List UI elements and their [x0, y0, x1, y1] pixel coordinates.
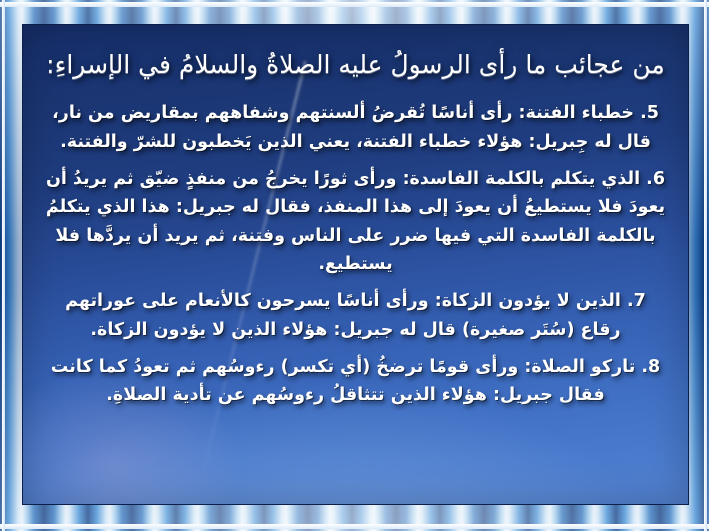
paragraph-item-8: 8. تاركو الصلاة: ورأى قومًا ترضخُ (أي تك… [43, 353, 668, 410]
content-panel: من عجائب ما رأى الرسولُ عليه الصلاةُ وال… [22, 24, 689, 505]
frame-edge-left [2, 0, 5, 531]
paragraph-item-6: 6. الذي يتكلم بالكلمة الفاسدة: ورأى ثورً… [43, 165, 668, 278]
frame-edge-top [0, 2, 709, 7]
page-title: من عجائب ما رأى الرسولُ عليه الصلاةُ وال… [43, 47, 668, 83]
frame-edge-bottom [0, 524, 709, 529]
paragraph-item-5: 5. خطباء الفتنة: رأى أناسًا تُقرضُ ألسنت… [43, 99, 668, 156]
frame-edge-right [704, 0, 707, 531]
content-area: من عجائب ما رأى الرسولُ عليه الصلاةُ وال… [23, 25, 688, 504]
paragraph-item-7: 7. الذين لا يؤدون الزكاة: ورأى أناسًا يس… [43, 287, 668, 344]
slide-canvas: من عجائب ما رأى الرسولُ عليه الصلاةُ وال… [0, 0, 709, 531]
